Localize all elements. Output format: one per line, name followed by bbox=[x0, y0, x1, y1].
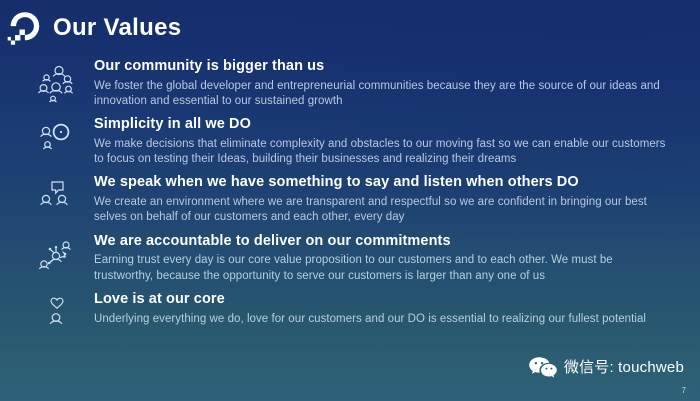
digitalocean-logo-icon bbox=[2, 5, 48, 51]
list-item: Simplicity in all we DO We make decision… bbox=[0, 116, 700, 167]
value-body: We foster the global developer and entre… bbox=[94, 79, 668, 110]
value-text: Our community is bigger than us We foste… bbox=[84, 58, 686, 109]
people-accountability-network-icon bbox=[32, 233, 84, 277]
value-heading: Our community is bigger than us bbox=[94, 58, 668, 75]
value-body: We make decisions that eliminate complex… bbox=[94, 137, 668, 168]
values-list: Our community is bigger than us We foste… bbox=[0, 58, 700, 338]
two-people-speech-bubble-icon bbox=[32, 174, 84, 214]
list-item: Our community is bigger than us We foste… bbox=[0, 58, 700, 109]
value-text: We speak when we have something to say a… bbox=[84, 174, 686, 225]
value-heading: Love is at our core bbox=[94, 291, 668, 308]
value-body: Earning trust every day is our core valu… bbox=[94, 253, 668, 284]
list-item: We speak when we have something to say a… bbox=[0, 174, 700, 225]
watermark-text: 微信号: touchweb bbox=[564, 360, 684, 375]
value-body: We create an environment where we are tr… bbox=[94, 195, 668, 226]
person-and-circle-simplicity-icon bbox=[32, 116, 84, 156]
value-heading: Simplicity in all we DO bbox=[94, 116, 668, 133]
value-text: Love is at our core Underlying everythin… bbox=[84, 291, 686, 327]
value-text: We are accountable to deliver on our com… bbox=[84, 233, 686, 284]
value-body: Underlying everything we do, love for ou… bbox=[94, 312, 668, 327]
value-text: Simplicity in all we DO We make decision… bbox=[84, 116, 686, 167]
community-people-network-icon bbox=[32, 58, 84, 104]
slide-canvas: Our Values bbox=[0, 0, 700, 401]
list-item: Love is at our core Underlying everythin… bbox=[0, 291, 700, 331]
list-item: We are accountable to deliver on our com… bbox=[0, 233, 700, 284]
value-heading: We speak when we have something to say a… bbox=[94, 174, 668, 191]
page-number: 7 bbox=[682, 387, 686, 395]
wechat-icon bbox=[528, 355, 558, 379]
slide-header: Our Values bbox=[0, 0, 700, 56]
watermark: 微信号: touchweb bbox=[528, 355, 684, 379]
value-heading: We are accountable to deliver on our com… bbox=[94, 233, 668, 250]
page-title: Our Values bbox=[53, 16, 181, 40]
person-with-heart-icon bbox=[32, 291, 84, 331]
